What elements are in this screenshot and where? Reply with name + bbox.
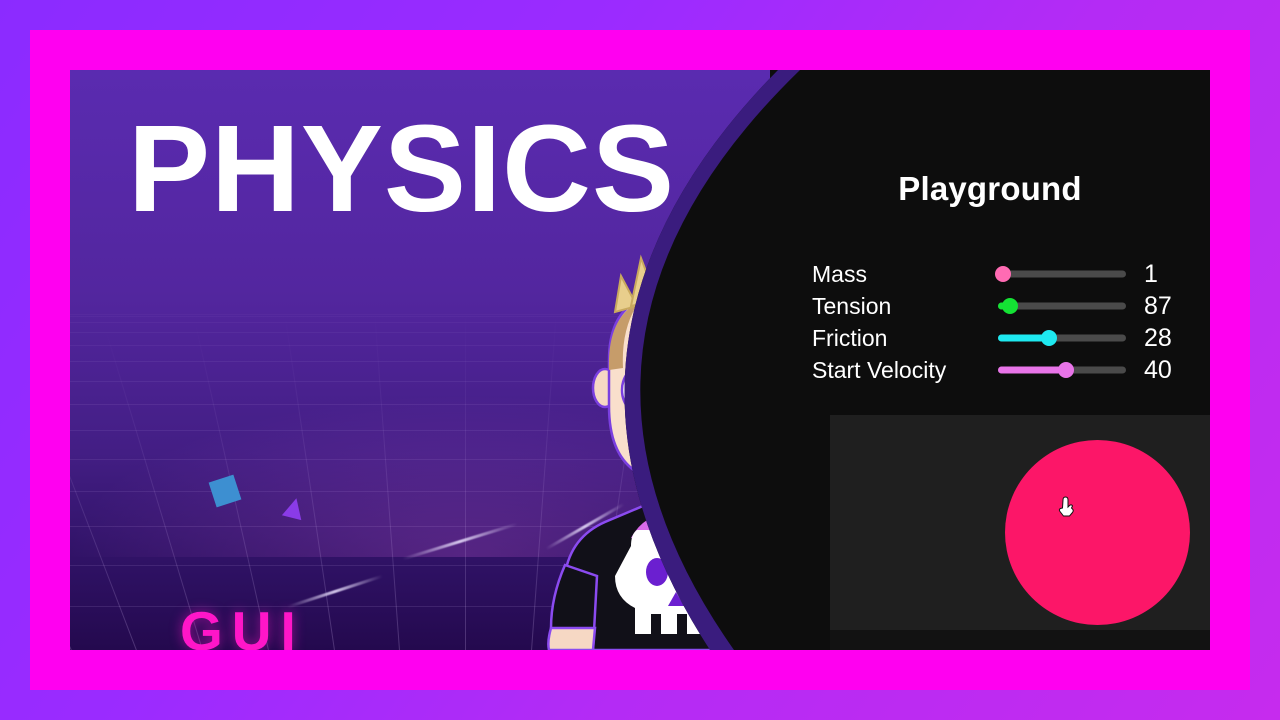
panel-footer <box>770 630 1210 650</box>
control-label: Tension <box>812 293 998 320</box>
slider-mass[interactable] <box>998 263 1126 285</box>
controls-list: Mass1Tension87Friction28Start Velocity40 <box>812 258 1190 386</box>
stage: PHYSICS GUI CHALLENGES <box>70 70 1210 650</box>
logo-gui-text: GUI <box>180 605 356 650</box>
inner-magenta-border: PHYSICS GUI CHALLENGES <box>30 30 1250 690</box>
slider-thumb-icon[interactable] <box>1002 298 1018 314</box>
control-value: 1 <box>1144 260 1190 289</box>
slider-thumb-icon[interactable] <box>1058 362 1074 378</box>
slider-start-velocity[interactable] <box>998 359 1126 381</box>
video-frame-border: PHYSICS GUI CHALLENGES <box>0 0 1280 720</box>
slider-friction[interactable] <box>998 327 1126 349</box>
grid-perspective-line <box>375 314 401 650</box>
physics-ball[interactable] <box>1005 440 1190 625</box>
control-label: Start Velocity <box>812 357 998 384</box>
control-row-friction: Friction28 <box>812 322 1190 354</box>
control-row-mass: Mass1 <box>812 258 1190 290</box>
slider-tension[interactable] <box>998 295 1126 317</box>
panel-title: Playground <box>770 170 1210 208</box>
control-value: 28 <box>1144 324 1190 353</box>
control-label: Friction <box>812 325 998 352</box>
ball-canvas-area[interactable] <box>770 415 1210 630</box>
gui-challenges-logo: GUI CHALLENGES <box>180 605 356 650</box>
slider-thumb-icon[interactable] <box>1041 330 1057 346</box>
grid-perspective-line <box>70 336 137 650</box>
control-row-tension: Tension87 <box>812 290 1190 322</box>
slider-track[interactable] <box>998 271 1126 278</box>
control-value: 87 <box>1144 292 1190 321</box>
control-row-start-velocity: Start Velocity40 <box>812 354 1190 386</box>
control-value: 40 <box>1144 356 1190 385</box>
curved-panel-divider <box>520 70 830 650</box>
control-label: Mass <box>812 261 998 288</box>
slider-thumb-icon[interactable] <box>995 266 1011 282</box>
grid-perspective-line <box>465 314 466 650</box>
slider-fill <box>998 367 1066 374</box>
pointing-hand-cursor <box>1057 496 1077 520</box>
physics-playground-app: Playground Mass1Tension87Friction28Start… <box>770 70 1210 650</box>
grid-perspective-line <box>70 345 72 650</box>
